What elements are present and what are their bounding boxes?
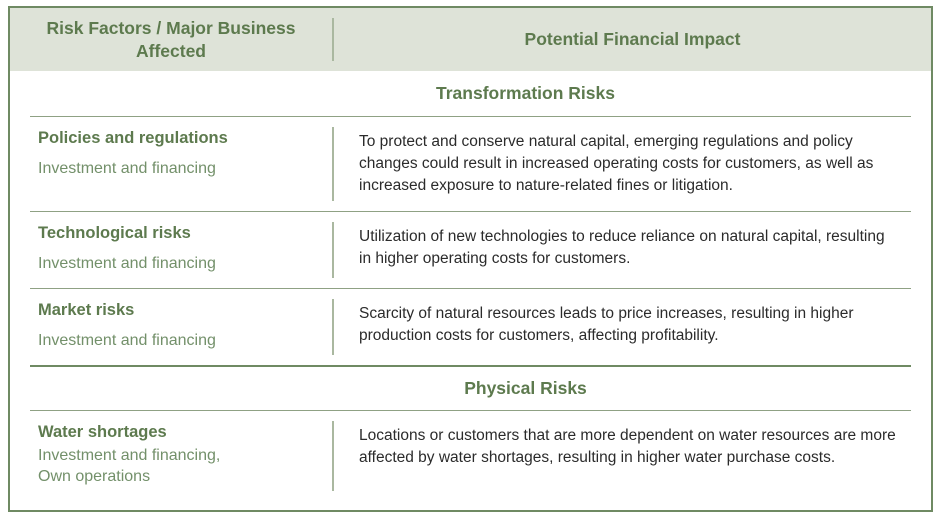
table-row: Water shortages Investment and financing… [30,410,911,501]
risk-factor-title: Water shortages [38,423,322,443]
risk-factor-cell: Water shortages Investment and financing… [30,411,332,501]
table-row: Policies and regulations Investment and … [30,116,911,211]
table-header-row: Risk Factors / Major Business Affected P… [10,8,931,71]
financial-impact-text: Scarcity of natural resources leads to p… [359,303,899,347]
business-affected-label: Investment and financing [38,253,322,274]
financial-impact-text: Locations or customers that are more dep… [359,425,899,469]
financial-impact-text: Utilization of new technologies to reduc… [359,226,899,270]
risk-factor-cell: Policies and regulations Investment and … [30,117,332,211]
table-body: Transformation Risks Policies and regula… [10,71,931,501]
section-title: Transformation Risks [326,83,615,104]
business-affected-label: Investment and financing [38,330,322,351]
business-affected-label: Investment and financing, Own operations [38,445,322,487]
section-header-physical-risks: Physical Risks [30,365,911,410]
financial-impact-cell: Utilization of new technologies to reduc… [334,212,911,288]
risk-factor-title: Policies and regulations [38,129,322,149]
section-header-transformation-risks: Transformation Risks [30,71,911,116]
table-row: Market risks Investment and financing Sc… [30,288,911,365]
table-row: Technological risks Investment and finan… [30,211,911,288]
business-affected-label: Investment and financing [38,158,322,179]
financial-impact-text: To protect and conserve natural capital,… [359,131,899,197]
risk-factor-cell: Market risks Investment and financing [30,289,332,365]
financial-impact-cell: Scarcity of natural resources leads to p… [334,289,911,365]
column-header-financial-impact: Potential Financial Impact [334,8,931,71]
risk-factors-table: Risk Factors / Major Business Affected P… [8,6,933,512]
section-title: Physical Risks [354,378,587,399]
financial-impact-cell: To protect and conserve natural capital,… [334,117,911,211]
column-header-risk-factors: Risk Factors / Major Business Affected [10,8,332,71]
risk-factor-cell: Technological risks Investment and finan… [30,212,332,288]
risk-factor-title: Market risks [38,301,322,321]
risk-factor-title: Technological risks [38,224,322,244]
financial-impact-cell: Locations or customers that are more dep… [334,411,911,501]
